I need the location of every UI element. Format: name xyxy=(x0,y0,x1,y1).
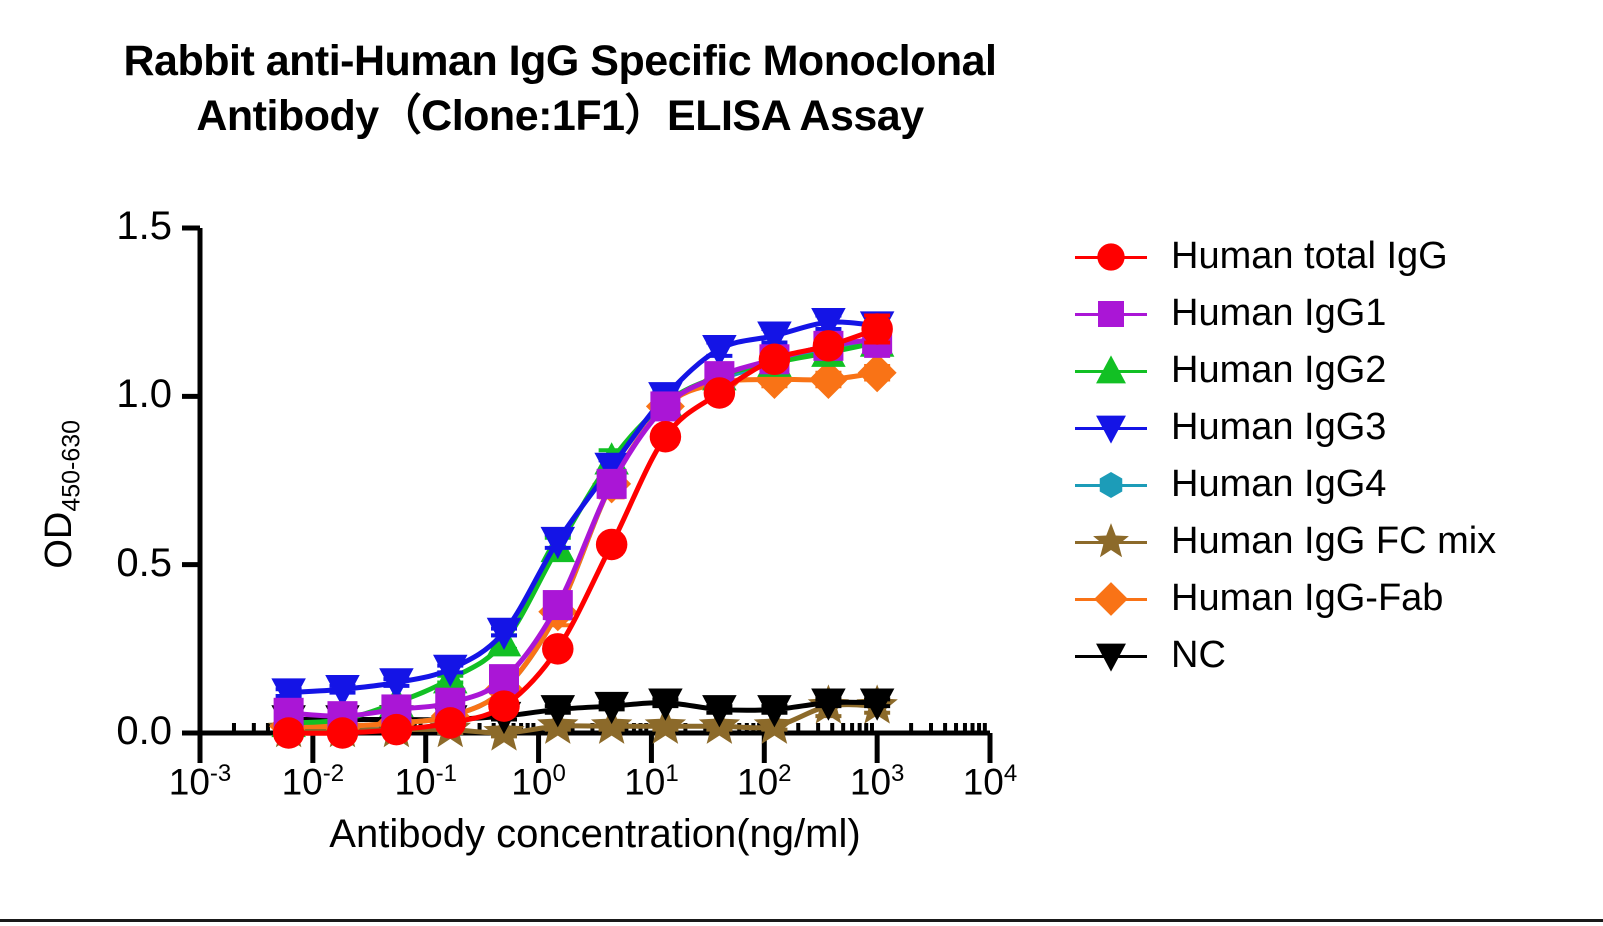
legend-item-human-igg4[interactable]: Human IgG4 xyxy=(1075,456,1595,513)
data-point-marker xyxy=(1094,582,1128,616)
data-point-marker xyxy=(861,313,893,345)
x-axis-tick-mantissa: 10 xyxy=(737,761,778,802)
square-marker xyxy=(597,469,627,499)
x-axis-tick-label: 10-1 xyxy=(378,762,474,800)
bottom-divider xyxy=(0,919,1603,922)
data-point-marker xyxy=(704,377,736,409)
x-axis-tick-exponent: 0 xyxy=(552,760,565,787)
data-point-marker xyxy=(1096,643,1126,671)
data-point-marker xyxy=(488,690,520,722)
x-axis-label: Antibody concentration(ng/ml) xyxy=(200,812,990,857)
legend-item-human-igg3[interactable]: Human IgG3 xyxy=(1075,399,1595,456)
y-axis-label: OD450-630 xyxy=(38,420,87,569)
x-axis-tick-mantissa: 10 xyxy=(169,761,210,802)
square-marker xyxy=(650,391,680,421)
circle-marker xyxy=(813,330,845,362)
chart-figure: Rabbit anti-Human IgG Specific Monoclona… xyxy=(0,0,1603,926)
data-series xyxy=(276,327,891,741)
circle-marker xyxy=(435,707,467,739)
legend-marker-star-icon xyxy=(1088,519,1134,565)
circle-marker xyxy=(327,717,359,749)
x-axis-tick-exponent: -2 xyxy=(323,760,344,787)
data-point-marker xyxy=(1097,243,1124,270)
legend-item-human-igg1[interactable]: Human IgG1 xyxy=(1075,285,1595,342)
circle-marker xyxy=(542,633,574,665)
data-point-marker xyxy=(650,421,682,453)
square-marker xyxy=(1098,301,1124,327)
data-point-marker xyxy=(381,714,413,746)
x-axis-tick-label: 104 xyxy=(942,762,1038,800)
legend-symbol xyxy=(1075,636,1147,676)
circle-marker xyxy=(704,377,736,409)
data-point-marker xyxy=(596,529,628,561)
diamond-marker xyxy=(858,353,897,392)
data-point-marker xyxy=(650,391,680,421)
series-line xyxy=(289,339,878,716)
legend: Human total IgGHuman IgG1Human IgG2Human… xyxy=(1075,228,1595,684)
legend-symbol xyxy=(1075,237,1147,277)
legend-label: NC xyxy=(1171,634,1226,677)
series-line xyxy=(289,329,878,733)
legend-label: Human IgG3 xyxy=(1171,406,1386,449)
legend-symbol xyxy=(1075,351,1147,391)
data-point-marker xyxy=(435,707,467,739)
triangle-up-marker xyxy=(1096,355,1126,383)
legend-symbol xyxy=(1075,522,1147,562)
data-series xyxy=(271,324,894,737)
legend-symbol xyxy=(1075,579,1147,619)
y-axis-label-main: OD xyxy=(38,512,80,569)
legend-symbol xyxy=(1075,465,1147,505)
data-point-marker xyxy=(858,353,897,392)
legend-symbol xyxy=(1075,408,1147,448)
data-point-marker xyxy=(759,344,791,376)
series-line xyxy=(289,342,878,722)
x-axis-tick-label: 10-2 xyxy=(265,762,361,800)
x-axis-tick-exponent: 1 xyxy=(665,760,678,787)
x-axis-tick-label: 100 xyxy=(491,762,587,800)
triangle-down-marker xyxy=(1096,643,1126,671)
legend-marker-diamond-icon xyxy=(1088,576,1134,622)
x-axis-tick-label: 103 xyxy=(829,762,925,800)
legend-label: Human IgG1 xyxy=(1171,292,1386,335)
legend-item-human-igg-fc-mix[interactable]: Human IgG FC mix xyxy=(1075,513,1595,570)
legend-marker-triangle-down-icon xyxy=(1088,633,1134,679)
y-axis-tick-value: 1.0 xyxy=(116,374,172,414)
x-axis-tick-mantissa: 10 xyxy=(963,761,1004,802)
legend-label: Human IgG-Fab xyxy=(1171,577,1443,620)
x-axis-tick-exponent: 4 xyxy=(1004,760,1017,787)
data-point-marker xyxy=(542,633,574,665)
legend-marker-circle-icon xyxy=(1088,234,1134,280)
data-point-marker xyxy=(1096,415,1126,443)
circle-marker xyxy=(596,529,628,561)
x-axis-tick-mantissa: 10 xyxy=(394,761,435,802)
circle-marker xyxy=(861,313,893,345)
legend-marker-triangle-up-icon xyxy=(1088,348,1134,394)
circle-marker xyxy=(273,717,305,749)
data-series xyxy=(271,308,894,711)
x-axis-tick-mantissa: 10 xyxy=(511,761,552,802)
data-point-marker xyxy=(327,717,359,749)
x-axis-tick-mantissa: 10 xyxy=(850,761,891,802)
circle-marker xyxy=(1097,243,1124,270)
x-axis-tick-exponent: -1 xyxy=(436,760,457,787)
x-axis-tick-label: 101 xyxy=(603,762,699,800)
square-marker xyxy=(543,590,573,620)
legend-marker-hexagon-icon xyxy=(1088,462,1134,508)
x-axis-tick-mantissa: 10 xyxy=(282,761,323,802)
legend-marker-triangle-down-icon xyxy=(1088,405,1134,451)
circle-marker xyxy=(650,421,682,453)
legend-symbol xyxy=(1075,294,1147,334)
legend-item-human-igg2[interactable]: Human IgG2 xyxy=(1075,342,1595,399)
data-point-marker xyxy=(597,469,627,499)
data-point-marker xyxy=(1093,523,1129,557)
x-axis-tick-exponent: -3 xyxy=(210,760,231,787)
legend-item-human-igg-fab[interactable]: Human IgG-Fab xyxy=(1075,570,1595,627)
legend-label: Human total IgG xyxy=(1171,235,1448,278)
legend-label: Human IgG4 xyxy=(1171,463,1386,506)
legend-label: Human IgG2 xyxy=(1171,349,1386,392)
triangle-down-marker xyxy=(1096,415,1126,443)
legend-marker-square-icon xyxy=(1088,291,1134,337)
circle-marker xyxy=(488,690,520,722)
series-line xyxy=(289,342,878,726)
hexagon-marker xyxy=(1100,472,1123,498)
x-axis-tick-label: 10-3 xyxy=(152,762,248,800)
legend-item-nc[interactable]: NC xyxy=(1075,627,1595,684)
data-point-marker xyxy=(489,664,519,694)
diamond-marker xyxy=(1094,582,1128,616)
data-point-marker xyxy=(1096,355,1126,383)
data-point-marker xyxy=(543,590,573,620)
circle-marker xyxy=(759,344,791,376)
y-axis-label-sub: 450-630 xyxy=(58,420,86,512)
circle-marker xyxy=(381,714,413,746)
data-point-marker xyxy=(1100,472,1123,498)
data-point-marker xyxy=(273,717,305,749)
x-axis-tick-exponent: 3 xyxy=(891,760,904,787)
data-point-marker xyxy=(1098,301,1124,327)
y-axis-tick-value: 1.5 xyxy=(116,206,172,246)
x-axis-tick-exponent: 2 xyxy=(778,760,791,787)
y-axis-tick-value: 0.0 xyxy=(116,711,172,751)
square-marker xyxy=(489,664,519,694)
legend-label: Human IgG FC mix xyxy=(1171,520,1496,563)
x-axis-tick-label: 102 xyxy=(716,762,812,800)
x-axis-tick-mantissa: 10 xyxy=(624,761,665,802)
star-marker xyxy=(1093,523,1129,557)
data-point-marker xyxy=(813,330,845,362)
data-series xyxy=(274,322,893,731)
legend-item-human-total-igg[interactable]: Human total IgG xyxy=(1075,228,1595,285)
y-axis-tick-value: 0.5 xyxy=(116,543,172,583)
